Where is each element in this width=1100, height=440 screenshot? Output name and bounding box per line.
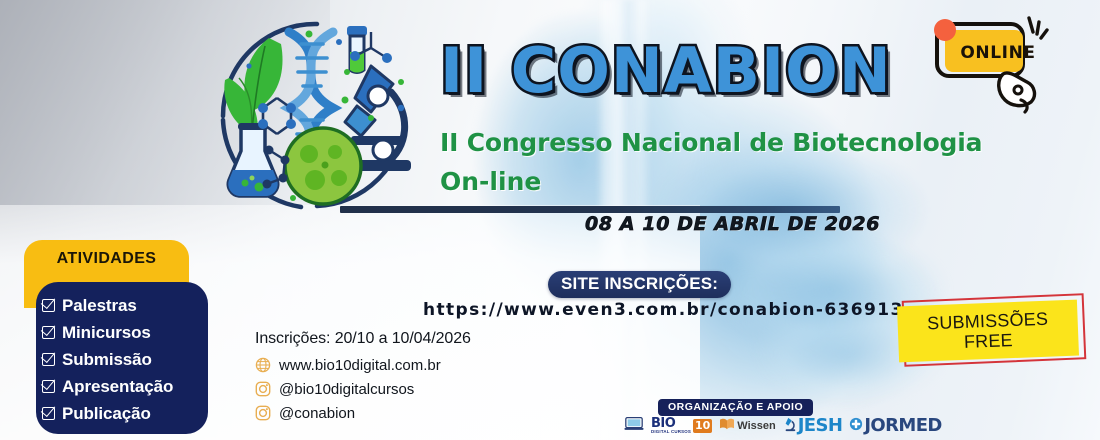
registration-url-link[interactable]: https://www.even3.com.br/conabion-636913 [423,300,904,320]
book-icon [719,417,735,436]
registration-period: Inscrições: 20/10 a 10/04/2026 [255,330,471,348]
instagram-handle-1: @bio10digitalcursos [279,381,414,398]
event-subtitle-line1: II Congresso Nacional de Biotecnologia [440,128,982,157]
checkbox-checked-icon [42,407,55,420]
jesh-logo: JESH [783,416,843,437]
instagram-icon [255,381,271,397]
activities-list: Palestras Minicursos Submissão Apresenta… [36,292,208,427]
globe-icon [255,357,271,373]
event-date: 08 A 10 DE ABRIL DE 2026 [585,213,880,235]
list-item[interactable]: Publicação [42,400,208,427]
checkbox-checked-icon [42,326,55,339]
event-title: II CONABION [440,40,892,102]
instagram-icon [255,405,271,421]
submissions-free-badge: SUBMISSÕES FREE [897,300,1079,363]
wissen-label: Wissen [737,420,775,432]
checkbox-checked-icon [42,380,55,393]
biotechnology-illustration [205,8,423,213]
submissions-line2: FREE [964,330,1014,352]
activity-label: Palestras [62,296,137,316]
contact-instagram-row-1[interactable]: @bio10digitalcursos [255,377,471,401]
activity-label: Apresentação [62,377,173,397]
medical-cross-icon [849,417,863,436]
activities-tab-label: ATIVIDADES [24,250,189,268]
divider-rule [340,206,840,213]
list-item[interactable]: Minicursos [42,319,208,346]
online-badge-label: ONLINE [955,43,1041,63]
laptop-icon [624,416,644,436]
conabion-event-banner: II CONABION II Congresso Nacional de Bio… [0,0,1100,440]
bio10-accent: 10 [693,419,712,433]
activity-label: Submissão [62,350,152,370]
wissen-logo: Wissen [719,417,775,436]
sponsor-logos: BIO DIGITAL CURSOS 10 Wissen [624,414,942,438]
contact-instagram-row-2[interactable]: @conabion [255,401,471,425]
list-item[interactable]: Apresentação [42,373,208,400]
site-registration-badge: SITE INSCRIÇÕES: [548,271,731,298]
checkbox-checked-icon [42,299,55,312]
list-item[interactable]: Palestras [42,292,208,319]
contact-website-row[interactable]: www.bio10digital.com.br [255,353,471,377]
submissions-line1: SUBMISSÕES [927,309,1049,334]
activity-label: Minicursos [62,323,151,343]
website-label: www.bio10digital.com.br [279,357,441,374]
jesh-label: JESH [798,417,843,435]
jormed-logo: JORMED [849,417,941,436]
event-subtitle-line2: On-line [440,167,541,196]
checkbox-checked-icon [42,353,55,366]
activity-label: Publicação [62,404,151,424]
instagram-handle-2: @conabion [279,405,355,422]
bio10-sub: DIGITAL CURSOS [651,430,691,435]
jormed-label: JORMED [864,417,941,435]
bio10-digital-logo: BIO DIGITAL CURSOS 10 [651,416,712,436]
online-badge[interactable] [925,8,1055,123]
contact-block: Inscrições: 20/10 a 10/04/2026 www.bio10… [255,330,471,425]
list-item[interactable]: Submissão [42,346,208,373]
microscope-icon [783,416,797,437]
